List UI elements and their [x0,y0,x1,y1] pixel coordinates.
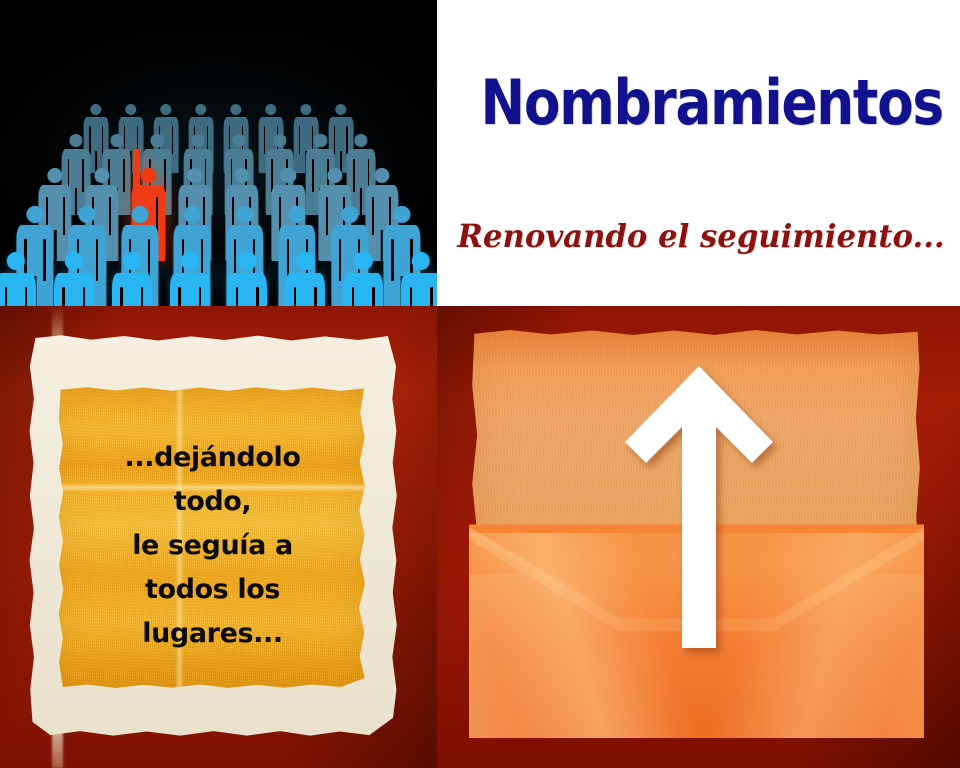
figure-head [265,104,276,115]
figure-arm-gap [256,287,258,306]
figure-body [343,273,383,306]
figure-arm-gap [326,197,328,235]
figure-arm-gap [372,287,374,306]
figure-arm-gap [430,287,432,306]
figure-body [112,273,152,306]
up-arrow-icon [621,362,777,652]
figure-head [238,252,256,270]
figure-arm-gap [96,239,98,281]
figure-arm-gap [299,126,300,154]
figure-head [90,104,101,115]
figure-arm-gap [410,287,412,306]
figure-head [188,168,203,183]
quote-panel: ...dejándolotodo,le seguía atodos loslug… [0,306,437,768]
figure-head [341,206,358,223]
figure-head [335,104,346,115]
figure-arm-gap [62,287,64,306]
figure-head [394,206,411,223]
page-title: Nombramientos [481,72,918,134]
figure-head [125,104,136,115]
figure-head [314,134,327,147]
figure-arm-gap [312,159,314,192]
quote-line: le seguía a [60,524,365,568]
figure-head [160,104,171,115]
figure-body [54,273,94,306]
figure-head [69,134,82,147]
figure-head [184,206,201,223]
figure-head [374,168,389,183]
figure-head [191,134,204,147]
crowd-figure [401,252,437,306]
title-panel: Nombramientos Renovando el seguimiento..… [437,0,960,306]
figure-arm-gap [63,197,65,235]
figure-arm-gap [43,239,45,281]
quote-line: ...dejándolo [60,436,365,480]
figure-head [230,104,241,115]
figure-head [354,252,372,270]
crowd-figure [227,252,267,306]
figure-arm-gap [372,197,374,235]
figure-arm-gap [109,197,111,235]
quote-line: lugares... [60,612,365,656]
figure-head [122,252,140,270]
figure-head [232,134,245,147]
figure-arm-gap [353,159,355,192]
figure-arm-gap [141,287,143,306]
envelope-panel [437,306,960,768]
figure-arm-gap [236,287,238,306]
figure-head [48,168,63,183]
figure-arm-gap [123,159,125,192]
figure-head [300,104,311,115]
quote-text: ...dejándolotodo,le seguía atodos loslug… [60,436,365,656]
figure-head [328,168,343,183]
figure-arm-gap [352,287,354,306]
figure-head [234,168,249,183]
crowd-figure [112,252,152,306]
figure-body [285,273,325,306]
figure-body [227,273,267,306]
figure-arm-gap [314,287,316,306]
figure-arm-gap [178,287,180,306]
figure-arm-gap [294,287,296,306]
figure-head [79,206,96,223]
figure-head [296,252,314,270]
figure-head [26,206,43,223]
figure-head [236,206,253,223]
figure-head [180,252,198,270]
crowd-stage [0,0,437,306]
raised-hand [133,149,140,188]
figure-head [273,134,286,147]
crowd-figure [170,252,210,306]
figure-head [412,252,430,270]
figure-arm-gap [82,159,84,192]
figure-arm-gap [339,239,341,281]
crowd-figure [285,252,325,306]
figure-head [65,252,83,270]
quote-line: todos los [60,568,365,612]
slide-canvas: Nombramientos Renovando el seguimiento..… [0,0,960,768]
figure-head [355,134,368,147]
figure-head [151,134,164,147]
figure-arm-gap [172,126,173,154]
figure-head [7,252,25,270]
figure-arm-gap [120,287,122,306]
crowd-figure [343,252,383,306]
figure-arm-gap [5,287,7,306]
figure-head [131,206,148,223]
figure-head [110,134,123,147]
page-subtitle: Renovando el seguimiento... [457,218,945,254]
crowd-figure [0,252,36,306]
figure-arm-gap [83,287,85,306]
crowd-figure [54,252,94,306]
figure-body [170,273,210,306]
figure-arm-gap [199,287,201,306]
figure-head [195,104,206,115]
figure-head [94,168,109,183]
figure-head [281,168,296,183]
figure-head [141,168,156,183]
figure-head [289,206,306,223]
figure-arm-gap [25,287,27,306]
crowd-panel [0,0,437,306]
quote-line: todo, [60,480,365,524]
figure-arm-gap [391,239,393,281]
